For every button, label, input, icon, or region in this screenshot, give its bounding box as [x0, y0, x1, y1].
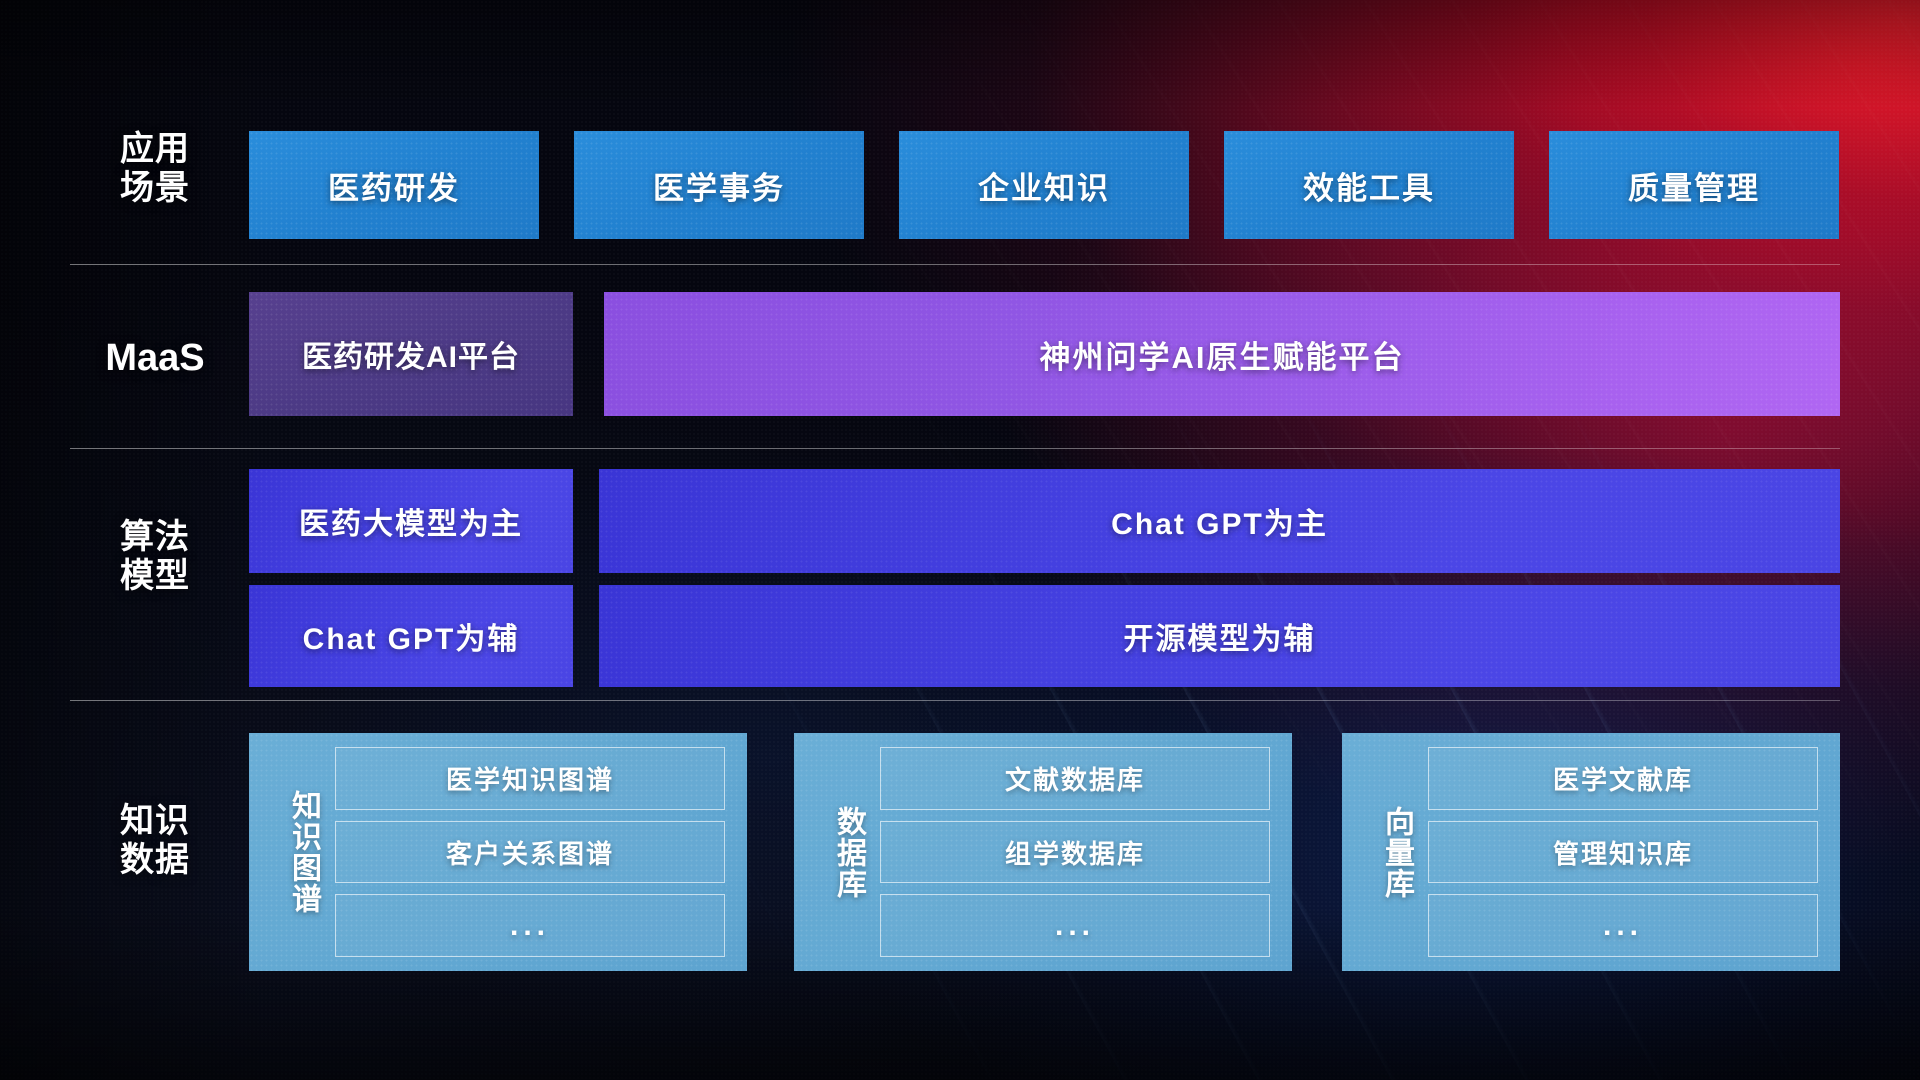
algorithm-card-chatgpt-primary[interactable]: Chat GPT为主 [599, 469, 1840, 573]
knowledge-item[interactable]: 管理知识库 [1428, 821, 1818, 884]
maas-card-medicine-ai-platform[interactable]: 医药研发AI平台 [249, 292, 573, 416]
app-card-quality-management[interactable]: 质量管理 [1549, 131, 1839, 239]
algorithm-card-label: Chat GPT为主 [1111, 499, 1328, 543]
knowledge-panel-knowledge-graph[interactable]: 知识图谱 医学知识图谱 客户关系图谱 ... [249, 733, 747, 971]
row-label-algorithm: 算法 模型 [70, 518, 240, 596]
knowledge-panel-items: 医学文献库 管理知识库 ... [1428, 747, 1818, 957]
maas-card-label: 神州问学AI原生赋能平台 [1040, 332, 1405, 377]
knowledge-panel-title: 数据库 [810, 806, 866, 899]
knowledge-item[interactable]: 医学文献库 [1428, 747, 1818, 810]
knowledge-item[interactable]: 组学数据库 [880, 821, 1270, 884]
maas-card-shenzhou-wenxue-platform[interactable]: 神州问学AI原生赋能平台 [604, 292, 1840, 416]
knowledge-item[interactable]: 客户关系图谱 [335, 821, 725, 884]
algorithm-card-label: 开源模型为辅 [1124, 614, 1316, 658]
knowledge-item-more[interactable]: ... [335, 894, 725, 957]
algorithm-card-opensource-secondary[interactable]: 开源模型为辅 [599, 585, 1840, 687]
knowledge-panel-items: 医学知识图谱 客户关系图谱 ... [335, 747, 725, 957]
app-card-label: 企业知识 [978, 163, 1110, 208]
knowledge-panel-vector-store[interactable]: 向量库 医学文献库 管理知识库 ... [1342, 733, 1840, 971]
knowledge-panel-title: 向量库 [1358, 806, 1414, 899]
divider-application-maas [70, 264, 1840, 265]
row-label-application: 应用 场景 [70, 130, 240, 208]
app-card-label: 医学事务 [653, 163, 785, 208]
algorithm-card-label: Chat GPT为辅 [303, 614, 520, 658]
algorithm-card-chatgpt-secondary[interactable]: Chat GPT为辅 [249, 585, 573, 687]
app-card-medical-affairs[interactable]: 医学事务 [574, 131, 864, 239]
knowledge-item-more[interactable]: ... [1428, 894, 1818, 957]
app-card-label: 质量管理 [1628, 163, 1760, 208]
divider-maas-algorithm [70, 448, 1840, 449]
app-card-efficiency-tools[interactable]: 效能工具 [1224, 131, 1514, 239]
app-card-label: 医药研发 [328, 163, 460, 208]
knowledge-panel-database[interactable]: 数据库 文献数据库 组学数据库 ... [794, 733, 1292, 971]
divider-algorithm-knowledge [70, 700, 1840, 701]
knowledge-panel-items: 文献数据库 组学数据库 ... [880, 747, 1270, 957]
knowledge-item[interactable]: 医学知识图谱 [335, 747, 725, 810]
app-card-label: 效能工具 [1303, 163, 1435, 208]
row-label-maas: MaaS [70, 337, 240, 380]
app-card-enterprise-knowledge[interactable]: 企业知识 [899, 131, 1189, 239]
row-label-knowledge: 知识 数据 [70, 802, 240, 880]
knowledge-item[interactable]: 文献数据库 [880, 747, 1270, 810]
algorithm-card-label: 医药大模型为主 [299, 499, 523, 543]
slide-canvas: 应用 场景 医药研发 医学事务 企业知识 效能工具 质量管理 MaaS 医药研发… [0, 0, 1920, 1080]
knowledge-panel-title: 知识图谱 [265, 790, 321, 914]
knowledge-item-more[interactable]: ... [880, 894, 1270, 957]
maas-card-label: 医药研发AI平台 [302, 332, 520, 376]
algorithm-card-medicine-llm-primary[interactable]: 医药大模型为主 [249, 469, 573, 573]
app-card-medicine-rd[interactable]: 医药研发 [249, 131, 539, 239]
